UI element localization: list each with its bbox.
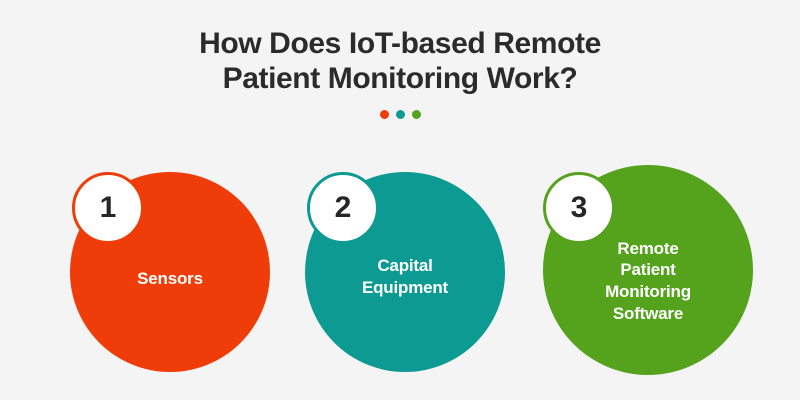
page-title: How Does IoT-based Remote Patient Monito… — [0, 26, 800, 96]
page-title-line-1: How Does IoT-based Remote — [0, 26, 800, 61]
dot-green-icon — [412, 110, 421, 119]
step-number-2: 2 — [335, 193, 352, 223]
step-badge-2: 2 — [307, 172, 379, 244]
steps-container: Sensors 1 Capital Equipment 2 Remote Pat… — [0, 162, 800, 388]
dot-orange-icon — [380, 110, 389, 119]
step-badge-1: 1 — [72, 172, 144, 244]
infographic-header: How Does IoT-based Remote Patient Monito… — [0, 26, 800, 119]
infographic-root: How Does IoT-based Remote Patient Monito… — [0, 0, 800, 400]
step-number-1: 1 — [100, 193, 117, 223]
decorative-dots-divider — [0, 110, 800, 119]
page-title-line-2: Patient Monitoring Work? — [0, 61, 800, 96]
step-badge-3: 3 — [543, 172, 615, 244]
step-label-2: Capital Equipment — [348, 255, 462, 299]
dot-teal-icon — [396, 110, 405, 119]
step-label-1: Sensors — [123, 268, 217, 290]
step-number-3: 3 — [571, 193, 588, 223]
step-label-3: Remote Patient Monitoring Software — [591, 238, 705, 325]
